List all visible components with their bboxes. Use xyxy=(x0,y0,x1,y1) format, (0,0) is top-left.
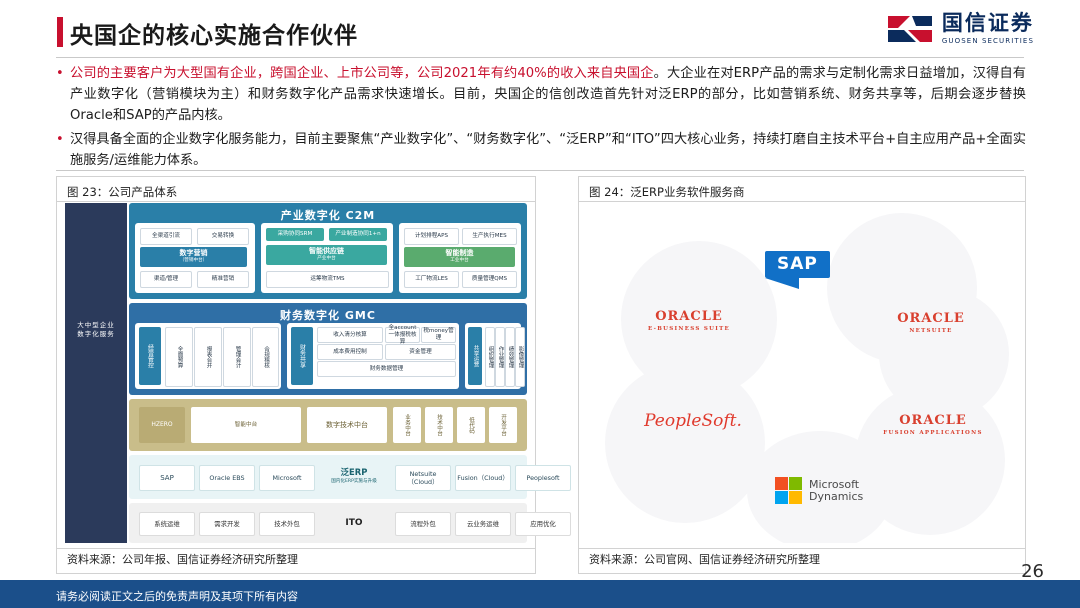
header-divider xyxy=(56,57,1024,58)
tag: 技术中台 xyxy=(425,407,453,443)
tag: 需求开发 xyxy=(199,512,255,536)
chip: 税money管理 xyxy=(421,327,456,343)
group-finance-share: 财务共享 收入清分核算 成本费用控制 全account一体报税核算 税money… xyxy=(287,323,459,389)
chip: 渠道/管理 xyxy=(140,271,192,288)
tag: Netsuite（Cloud） xyxy=(395,465,451,491)
figure-right-source-divider xyxy=(579,548,1025,549)
tag: 云业务运维 xyxy=(455,512,511,536)
chip-sublabel: 工业中台 xyxy=(450,257,468,264)
logo-sap: SAP xyxy=(765,251,830,278)
tag-subtitle: 国内化ERP实施与升级 xyxy=(331,478,377,486)
chip: 全渠道引流 xyxy=(140,228,192,245)
slide-header: 央国企的核心实施合作伙伴 国信证券 GUOSEN SECURITIES xyxy=(0,0,1080,58)
chip-vertical: 共享运营 xyxy=(468,327,482,385)
figure-left-source: 资料来源：公司年报、国信证券经济研究所整理 xyxy=(67,551,298,567)
tag-title-label: 数字技术中台 xyxy=(326,421,368,429)
figure-right-source: 资料来源：公司官网、国信证券经济研究所整理 xyxy=(589,551,820,567)
bullet-marker: • xyxy=(56,63,70,126)
chip: 工厂物流LES xyxy=(404,271,459,288)
tag: Peoplesoft xyxy=(515,465,571,491)
logo-oracle-netsuite-name: ORACLE xyxy=(871,311,991,326)
chip-vertical: 绩效管理 xyxy=(505,327,515,387)
logo-oracle-ebs-sub: E-BUSINESS SUITE xyxy=(625,326,753,332)
bullet-text: 汉得具备全面的企业数字化服务能力，目前主要聚焦“产业数字化”、“财务数字化”、“… xyxy=(70,129,1026,171)
chip: 资金管理 xyxy=(385,344,456,360)
chip-vertical: 合规稽核 xyxy=(252,327,279,387)
chip-vertical: 经营管控 xyxy=(139,327,161,385)
tag: Fusion（Cloud） xyxy=(455,465,511,491)
blob-decor xyxy=(605,363,765,523)
band-title-industrial: 产业数字化 C2M xyxy=(129,207,527,223)
tag: 开发平台 xyxy=(489,407,517,443)
band-finance-digitalization: 财务数字化 GMC 经营管控 全面预算 报表合并 管理会计 合规稽核 财务共享 … xyxy=(129,303,527,395)
chip-sublabel: （营销中台） xyxy=(180,257,208,264)
tag: 技术外包 xyxy=(259,512,315,536)
chip-label: 智能供应链 xyxy=(309,248,344,255)
tag-title: 数字技术中台 xyxy=(307,407,387,443)
band-title-finance: 财务数字化 GMC xyxy=(129,307,527,323)
chip: 计划排程APS xyxy=(404,228,459,245)
bullet-item: • 公司的主要客户为大型国有企业，跨国企业、上市公司等，公司2021年有约40%… xyxy=(56,63,1026,126)
figure-right-caption-divider xyxy=(579,201,1025,202)
bullet-text-highlight: 公司的主要客户为大型国有企业，跨国企业、上市公司等，公司2021年有约40%的收… xyxy=(70,66,654,81)
title-accent-bar xyxy=(57,17,63,47)
tag: SAP xyxy=(139,465,195,491)
bullet-item: • 汉得具备全面的企业数字化服务能力，目前主要聚焦“产业数字化”、“财务数字化”… xyxy=(56,129,1026,171)
tag: Microsoft xyxy=(259,465,315,491)
page-number: 26 xyxy=(1021,561,1044,582)
chip-label: 智能制造 xyxy=(446,250,474,257)
logo-oracle-netsuite: ORACLE NETSUITE xyxy=(871,311,991,334)
tag: 智能中台 xyxy=(191,407,301,443)
chip-vertical: 管理会计 xyxy=(223,327,251,387)
brand-logo: 国信证券 GUOSEN SECURITIES xyxy=(886,12,1034,46)
tag-title: 泛ERP 国内化ERP实施与升级 xyxy=(319,461,389,493)
page-title: 央国企的核心实施合作伙伴 xyxy=(70,16,358,50)
logo-oracle-netsuite-sub: NETSUITE xyxy=(871,328,991,334)
chip: 全account一体报税核算 xyxy=(385,327,420,343)
chip-label: 数字营销 xyxy=(180,250,208,257)
tag: 低代码 xyxy=(457,407,485,443)
chip: 质量管理QMS xyxy=(462,271,517,288)
tag: 流程外包 xyxy=(395,512,451,536)
diagram-sidebar: 大中型企业数字化服务 xyxy=(65,203,127,543)
footer-disclaimer: 请务必阅读正文之后的免责声明及其项下所有内容 xyxy=(56,588,298,604)
tag: 应用优化 xyxy=(515,512,571,536)
bullet-text: 公司的主要客户为大型国有企业，跨国企业、上市公司等，公司2021年有约40%的收… xyxy=(70,63,1026,126)
chip-highlight: 数字营销 （营销中台） xyxy=(140,247,247,267)
microsoft-squares-icon xyxy=(775,477,803,505)
figure-left: 图 23：公司产品体系 大中型企业数字化服务 产业数字化 C2M 全渠道引流 交… xyxy=(56,176,536,574)
group-management-control: 经营管控 全面预算 报表合并 管理会计 合规稽核 xyxy=(135,323,281,389)
logo-peoplesoft: PeopleSoft. xyxy=(621,411,765,431)
group-marketing: 全渠道引流 交易转换 数字营销 （营销中台） 渠道/管理 精准营销 xyxy=(135,223,255,293)
chip-sublabel: 产业中台 xyxy=(317,255,335,262)
slide-footer: 请务必阅读正文之后的免责声明及其项下所有内容 xyxy=(0,580,1080,608)
band-ito: 系统运维 需求开发 技术外包 ITO 流程外包 云业务运维 应用优化 xyxy=(129,503,527,543)
erp-vendor-cloud: SAP ORACLE E-BUSINESS SUITE ORACLE NETSU… xyxy=(579,203,1023,543)
product-system-diagram: 大中型企业数字化服务 产业数字化 C2M 全渠道引流 交易转换 数字营销 （营销… xyxy=(65,203,527,543)
tag-title-label: 泛ERP xyxy=(341,468,368,476)
chip: 收入清分核算 xyxy=(317,327,383,343)
band-general-erp: SAP Oracle EBS Microsoft 泛ERP 国内化ERP实施与升… xyxy=(129,455,527,499)
figure-right: 图 24：泛ERP业务软件服务商 SAP ORACLE E-BUSINESS S… xyxy=(578,176,1026,574)
chip-vertical: 全面预算 xyxy=(165,327,193,387)
body-bullets: • 公司的主要客户为大型国有企业，跨国企业、上市公司等，公司2021年有约40%… xyxy=(56,63,1026,174)
logo-name-cn: 国信证券 xyxy=(942,13,1034,34)
figure-left-caption-divider xyxy=(57,201,535,202)
group-smart-manufacturing: 计划排程APS 生产执行MES 智能制造 工业中台 工厂物流LES 质量管理QM… xyxy=(399,223,521,293)
logo-sap-shape xyxy=(765,278,799,289)
group-share-operation: 共享运营 组织管理 作业管理 绩效管理 影像管理 xyxy=(465,323,521,389)
chip: 交易转换 xyxy=(197,228,249,245)
band-tech-middle-platform: HZERO 智能中台 数字技术中台 业务中台 技术中台 低代码 开发平台 xyxy=(129,399,527,451)
group-supply-chain: 采购协同SRM 产业制造协同1+n 智能供应链 产业中台 运筹物流TMS xyxy=(261,223,393,293)
logo-microsoft-sub: Dynamics xyxy=(809,491,863,503)
tag: 系统运维 xyxy=(139,512,195,536)
tag: 业务中台 xyxy=(393,407,421,443)
chip-highlight: 智能制造 工业中台 xyxy=(404,247,515,267)
logo-microsoft-dynamics: Microsoft Dynamics xyxy=(775,477,915,505)
bullet-marker: • xyxy=(56,129,70,171)
chip: 生产执行MES xyxy=(462,228,517,245)
chip-vertical: 报表合并 xyxy=(194,327,222,387)
tag-title: ITO xyxy=(319,509,389,537)
chip: 精准营销 xyxy=(197,271,249,288)
logo-name-en: GUOSEN SECURITIES xyxy=(942,37,1034,45)
figure-left-source-divider xyxy=(57,548,535,549)
chip-vertical: 组织管理 xyxy=(485,327,495,387)
logo-oracle-fusion: ORACLE FUSION APPLICATIONS xyxy=(869,413,997,436)
tag: Oracle EBS xyxy=(199,465,255,491)
diagram-sidebar-label: 大中型企业数字化服务 xyxy=(65,321,127,339)
chip-vertical: 影像管理 xyxy=(515,327,525,387)
chip: 财务数据管理 xyxy=(317,361,456,377)
chip-vertical: 财务共享 xyxy=(291,327,313,385)
chip: 产业制造协同1+n xyxy=(329,228,387,241)
logo-oracle-ebs: ORACLE E-BUSINESS SUITE xyxy=(625,309,753,332)
chip: 采购协同SRM xyxy=(266,228,324,241)
tag: HZERO xyxy=(139,407,185,443)
logo-oracle-fusion-name: ORACLE xyxy=(869,413,997,428)
logo-mark-icon xyxy=(886,12,934,46)
logo-oracle-ebs-name: ORACLE xyxy=(625,309,753,324)
logo-peoplesoft-name: PeopleSoft. xyxy=(621,411,765,431)
slide: 央国企的核心实施合作伙伴 国信证券 GUOSEN SECURITIES • 公司… xyxy=(0,0,1080,608)
body-divider xyxy=(56,170,1024,171)
logo-oracle-fusion-sub: FUSION APPLICATIONS xyxy=(869,430,997,436)
chip: 成本费用控制 xyxy=(317,344,383,360)
chip: 运筹物流TMS xyxy=(266,271,389,288)
band-industrial-digitalization: 产业数字化 C2M 全渠道引流 交易转换 数字营销 （营销中台） 渠道/管理 精… xyxy=(129,203,527,299)
chip-vertical: 作业管理 xyxy=(495,327,505,387)
chip-highlight: 智能供应链 产业中台 xyxy=(266,245,387,265)
